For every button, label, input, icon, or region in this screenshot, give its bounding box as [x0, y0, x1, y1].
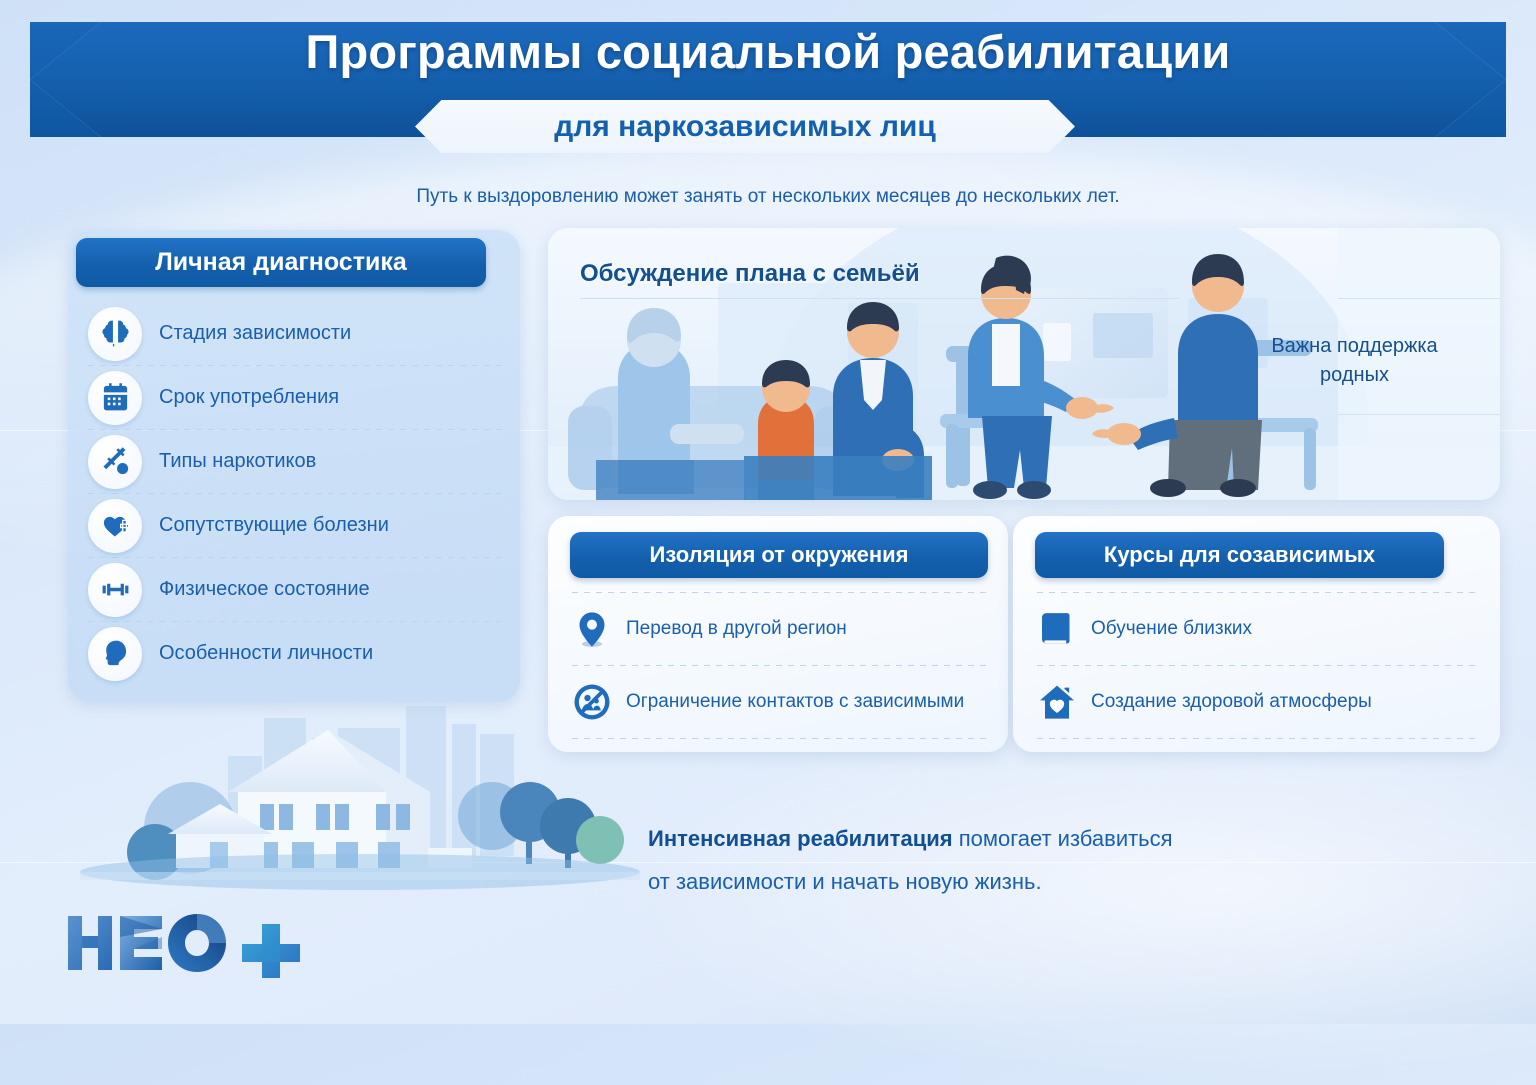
- house-heart-icon: [1037, 682, 1077, 722]
- footer-strong: Интенсивная реабилитация: [648, 826, 953, 851]
- list-item-label: Особенности личности: [159, 642, 373, 665]
- rehab-house-illustration: [60, 700, 660, 910]
- brain-icon: [88, 307, 142, 361]
- calendar-icon: [88, 371, 142, 425]
- syringe-icon: [88, 435, 142, 489]
- list-item-label: Стадия зависимости: [159, 322, 351, 345]
- list-item[interactable]: Срок употребления: [88, 366, 502, 429]
- logo-neo-plus[interactable]: НЕО+: [62, 908, 312, 978]
- footer-rest: помогает избавиться: [953, 826, 1173, 851]
- list-item[interactable]: Создание здоровой атмосферы: [1037, 666, 1478, 738]
- page-subtitle: для наркозависимых лиц: [415, 100, 1075, 153]
- dumbbell-icon: [88, 563, 142, 617]
- map-pin-icon: [572, 609, 612, 649]
- courses-chip: Курсы для созависимых: [1035, 532, 1444, 578]
- hero-rule: [580, 298, 1180, 299]
- list-item-label: Перевод в другой регион: [626, 618, 847, 640]
- footer-line2: от зависимости и начать новую жизнь.: [648, 869, 1042, 894]
- heart-cross-icon: [88, 499, 142, 553]
- diagnostics-panel: Личная диагностика Стадия зависимости Ср…: [68, 230, 520, 702]
- book-icon: [1037, 609, 1077, 649]
- diagnostics-chip: Личная диагностика: [76, 238, 486, 287]
- diagnostics-list: Стадия зависимости Срок употребления Тип…: [88, 302, 502, 685]
- list-item[interactable]: Перевод в другой регион: [572, 593, 986, 665]
- list-item-label: Обучение близких: [1091, 618, 1252, 640]
- list-item-label: Создание здоровой атмосферы: [1091, 691, 1372, 713]
- head-profile-icon: [88, 627, 142, 681]
- list-item-label: Типы наркотиков: [159, 450, 316, 473]
- list-item[interactable]: Сопутствующие болезни: [88, 494, 502, 557]
- list-item[interactable]: Физическое состояние: [88, 558, 502, 621]
- page-title: Программы социальной реабилитации: [0, 24, 1536, 79]
- courses-list: Обучение близких Создание здоровой атмос…: [1037, 592, 1478, 739]
- list-item[interactable]: Обучение близких: [1037, 593, 1478, 665]
- isolation-chip: Изоляция от окружения: [570, 532, 988, 578]
- family-discussion-card: Обсуждение плана с семьёй Важна поддержк…: [548, 228, 1500, 500]
- list-item-label: Ограничение контактов с зависимыми: [626, 691, 964, 713]
- footer-text: Интенсивная реабилитация помогает избави…: [648, 818, 1348, 904]
- list-item-label: Физическое состояние: [159, 578, 370, 601]
- intro-text: Путь к выздоровлению может занять от нес…: [0, 186, 1536, 208]
- hero-note: Важна поддержка родных: [1247, 332, 1462, 390]
- list-item[interactable]: Типы наркотиков: [88, 430, 502, 493]
- hero-title: Обсуждение плана с семьёй: [580, 260, 920, 288]
- courses-card: Курсы для созависимых Обучение близких С…: [1013, 516, 1500, 752]
- list-item-label: Срок употребления: [159, 386, 339, 409]
- list-item[interactable]: Стадия зависимости: [88, 302, 502, 365]
- list-item[interactable]: Особенности личности: [88, 622, 502, 685]
- list-item-label: Сопутствующие болезни: [159, 514, 389, 537]
- list-divider: [1037, 738, 1478, 739]
